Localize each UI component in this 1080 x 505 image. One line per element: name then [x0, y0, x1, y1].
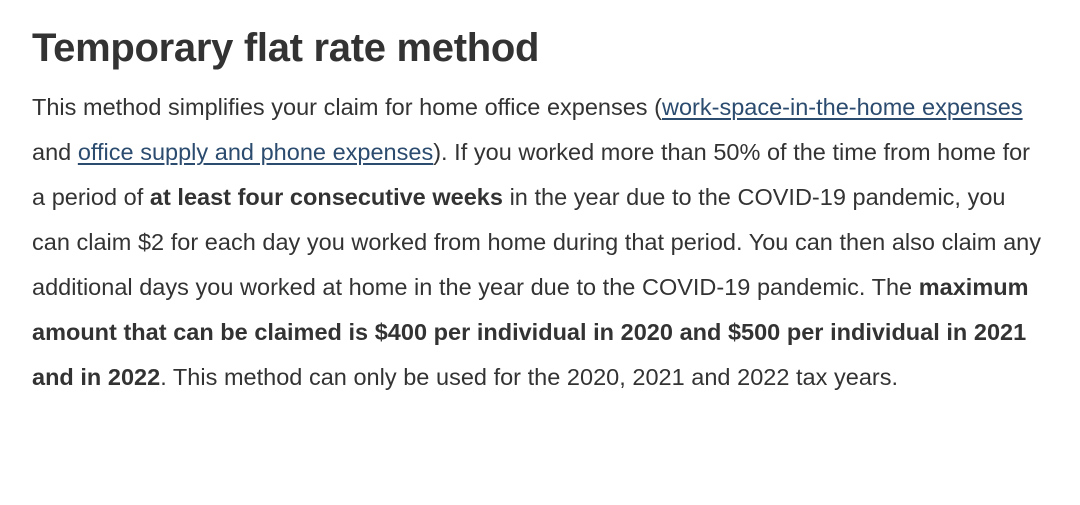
document-page: Temporary flat rate method This method s…: [0, 0, 1080, 505]
body-paragraph: This method simplifies your claim for ho…: [32, 74, 1048, 400]
paragraph-text-tax-years: . This method can only be used for the 2…: [160, 364, 898, 390]
paragraph-text-conjunction: and: [32, 139, 78, 165]
emphasis-four-consecutive-weeks: at least four consecutive weeks: [150, 184, 503, 210]
link-office-supply-and-phone-expenses[interactable]: office supply and phone expenses: [78, 139, 433, 165]
paragraph-text-intro: This method simplifies your claim for ho…: [32, 94, 662, 120]
link-work-space-in-the-home-expenses[interactable]: work-space-in-the-home expenses: [662, 94, 1023, 120]
page-title: Temporary flat rate method: [32, 0, 1048, 74]
